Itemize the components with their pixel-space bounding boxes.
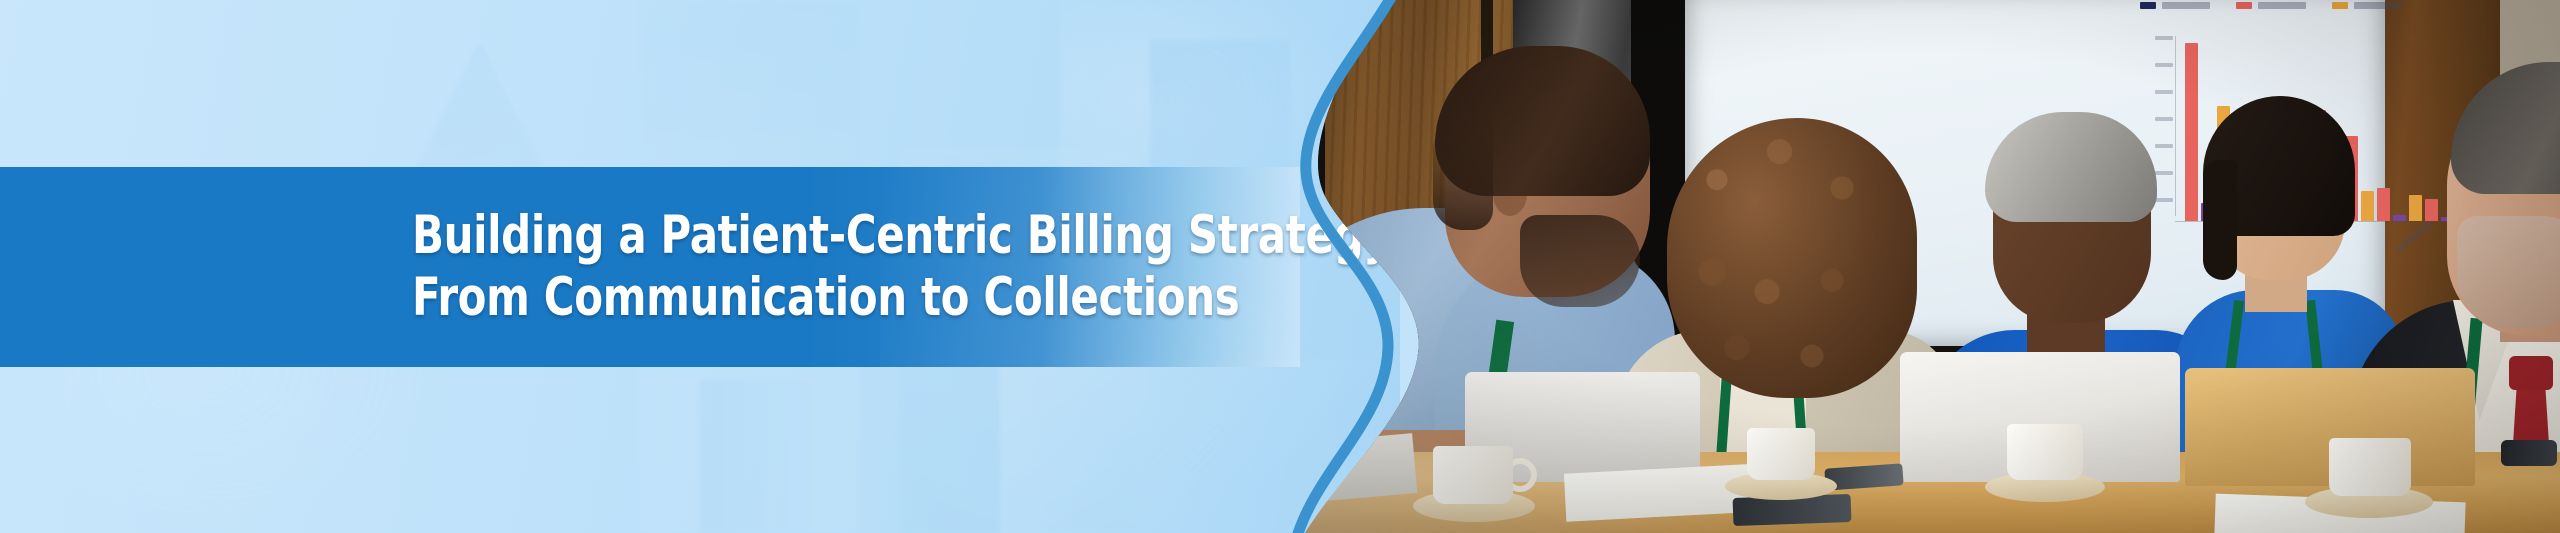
coffee-cup-icon: [2329, 438, 2411, 496]
chart-y-axis: [2175, 36, 2176, 216]
banner-title: Building a Patient-Centric Billing Strat…: [0, 167, 1300, 367]
legend-label: [2258, 2, 2306, 9]
coffee-cup-icon: [1433, 446, 1513, 504]
person-blazer-hair-texture: [1667, 118, 1917, 398]
necktie-knot: [2509, 356, 2553, 390]
y-tick-label: [2155, 198, 2173, 202]
legend-label: [2354, 2, 2402, 9]
chart-bar: [2409, 195, 2422, 221]
person-suit-beard: [2457, 216, 2560, 328]
legend-item: [2236, 2, 2306, 9]
hero-photo: [1285, 0, 2560, 533]
legend-swatch: [2236, 2, 2252, 9]
y-tick-label: [2155, 117, 2173, 121]
chart-bar: [2361, 191, 2374, 221]
promo-banner: Building a Patient-Centric Billing Strat…: [0, 0, 2560, 533]
legend-swatch: [2140, 2, 2156, 9]
chart-bar: [2377, 188, 2390, 221]
person-man-scrubs-hair-side: [1433, 110, 1493, 230]
wristwatch-icon: [2501, 440, 2557, 466]
chart-bar: [2185, 43, 2198, 221]
legend-item: [2332, 2, 2402, 9]
y-tick-label: [2155, 90, 2173, 94]
legend-item: [2140, 2, 2210, 9]
legend-label: [2162, 2, 2210, 9]
y-tick-label: [2155, 36, 2173, 40]
legend-swatch: [2332, 2, 2348, 9]
title-line-1: Building a Patient-Centric Billing Strat…: [412, 205, 1193, 267]
coffee-cup-icon: [2007, 424, 2083, 480]
chart-bar: [2425, 199, 2438, 221]
y-tick-label: [2155, 63, 2173, 67]
title-line-2: From Communication to Collections: [412, 267, 1193, 329]
person-nurse-standing-hair-side: [2203, 160, 2237, 280]
chart-legend: [2140, 2, 2402, 9]
y-tick-label: [2155, 144, 2173, 148]
y-tick-label: [2155, 171, 2173, 175]
person-man-scrubs-beard: [1520, 215, 1640, 307]
coffee-cup-icon: [1747, 428, 1815, 480]
